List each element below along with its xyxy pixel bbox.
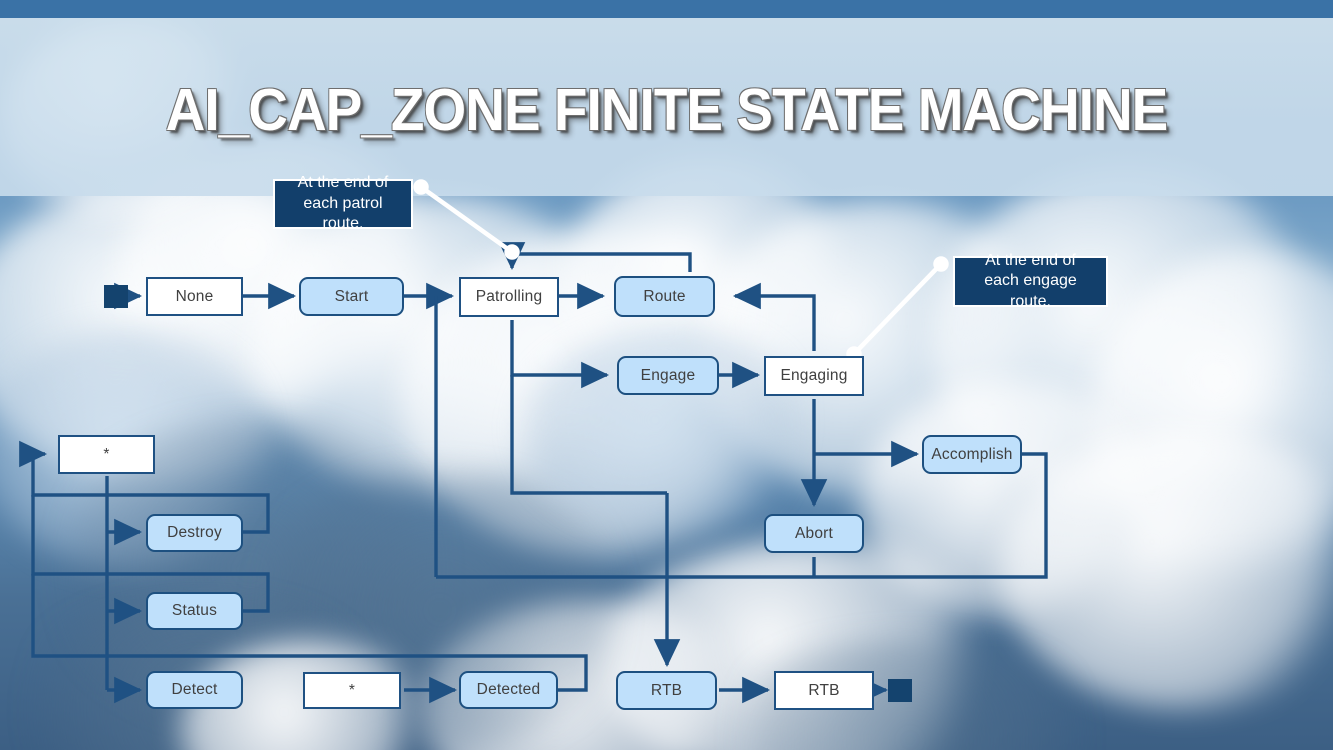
state-node-none[interactable]: None [146, 277, 243, 316]
state-node-patrolling[interactable]: Patrolling [459, 277, 559, 317]
end-terminal-node[interactable] [888, 679, 912, 702]
state-node-engage[interactable]: Engage [617, 356, 719, 395]
callout-engage-line2: each engage route. [984, 272, 1077, 309]
state-node-destroy[interactable]: Destroy [146, 514, 243, 552]
state-node-status[interactable]: Status [146, 592, 243, 630]
state-node-detect[interactable]: Detect [146, 671, 243, 709]
state-node-any-1[interactable]: * [58, 435, 155, 474]
callout-patrol-line2: each patrol route. [303, 195, 382, 232]
state-node-engaging[interactable]: Engaging [764, 356, 864, 396]
state-node-detected[interactable]: Detected [459, 671, 558, 709]
state-node-rtb[interactable]: RTB [616, 671, 717, 710]
slide-canvas: AI_CAP_ZONE FINITE STATE MACHINE [0, 0, 1333, 750]
callout-engage-line1: At the end of [985, 252, 1076, 269]
state-node-abort[interactable]: Abort [764, 514, 864, 553]
state-node-accomplish[interactable]: Accomplish [922, 435, 1022, 474]
callout-patrol-line1: At the end of [298, 174, 389, 191]
state-node-start[interactable]: Start [299, 277, 404, 316]
start-terminal-node[interactable] [104, 285, 128, 308]
callout-engage-note: At the end of each engage route. [953, 256, 1108, 307]
state-node-route[interactable]: Route [614, 276, 715, 317]
callout-patrol-note: At the end of each patrol route. [273, 179, 413, 229]
state-node-rtb-final[interactable]: RTB [774, 671, 874, 710]
state-node-any-2[interactable]: * [303, 672, 401, 709]
